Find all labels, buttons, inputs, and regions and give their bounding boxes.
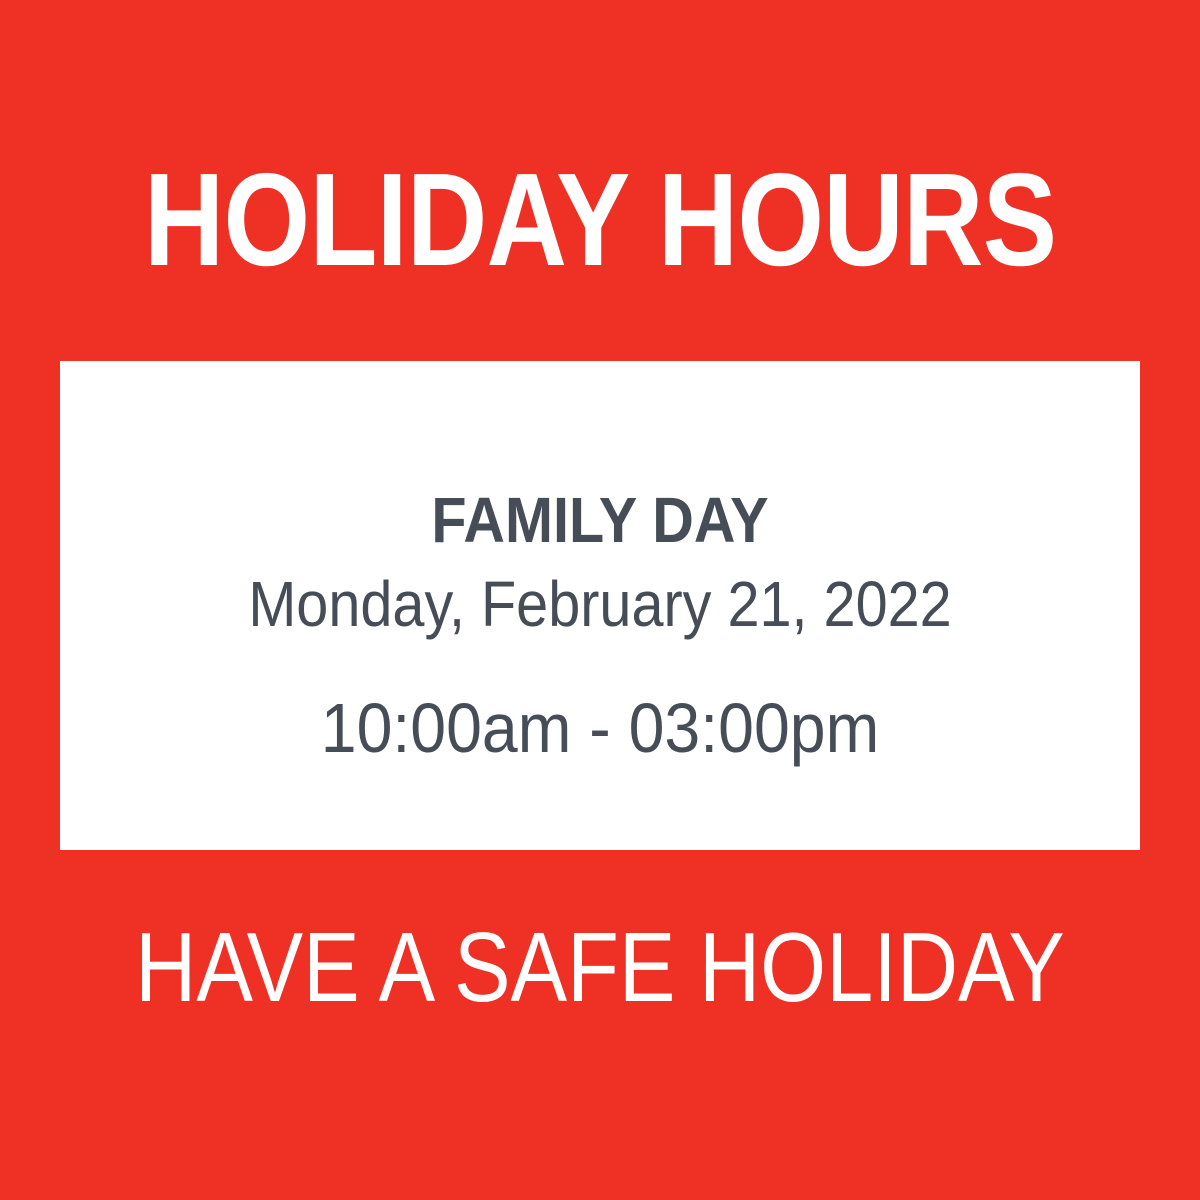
holiday-info-card: FAMILY DAY Monday, February 21, 2022 10:… (60, 361, 1140, 850)
holiday-date: Monday, February 21, 2022 (114, 569, 1086, 639)
holiday-hours: 10:00am - 03:00pm (103, 689, 1097, 767)
page-title: HOLIDAY HOURS (93, 150, 1107, 290)
holiday-hours-poster: HOLIDAY HOURS FAMILY DAY Monday, Februar… (0, 0, 1200, 1200)
holiday-info-card-body: FAMILY DAY Monday, February 21, 2022 10:… (60, 361, 1140, 850)
footer-message: HAVE A SAFE HOLIDAY (81, 912, 1119, 1022)
holiday-name: FAMILY DAY (114, 485, 1086, 555)
